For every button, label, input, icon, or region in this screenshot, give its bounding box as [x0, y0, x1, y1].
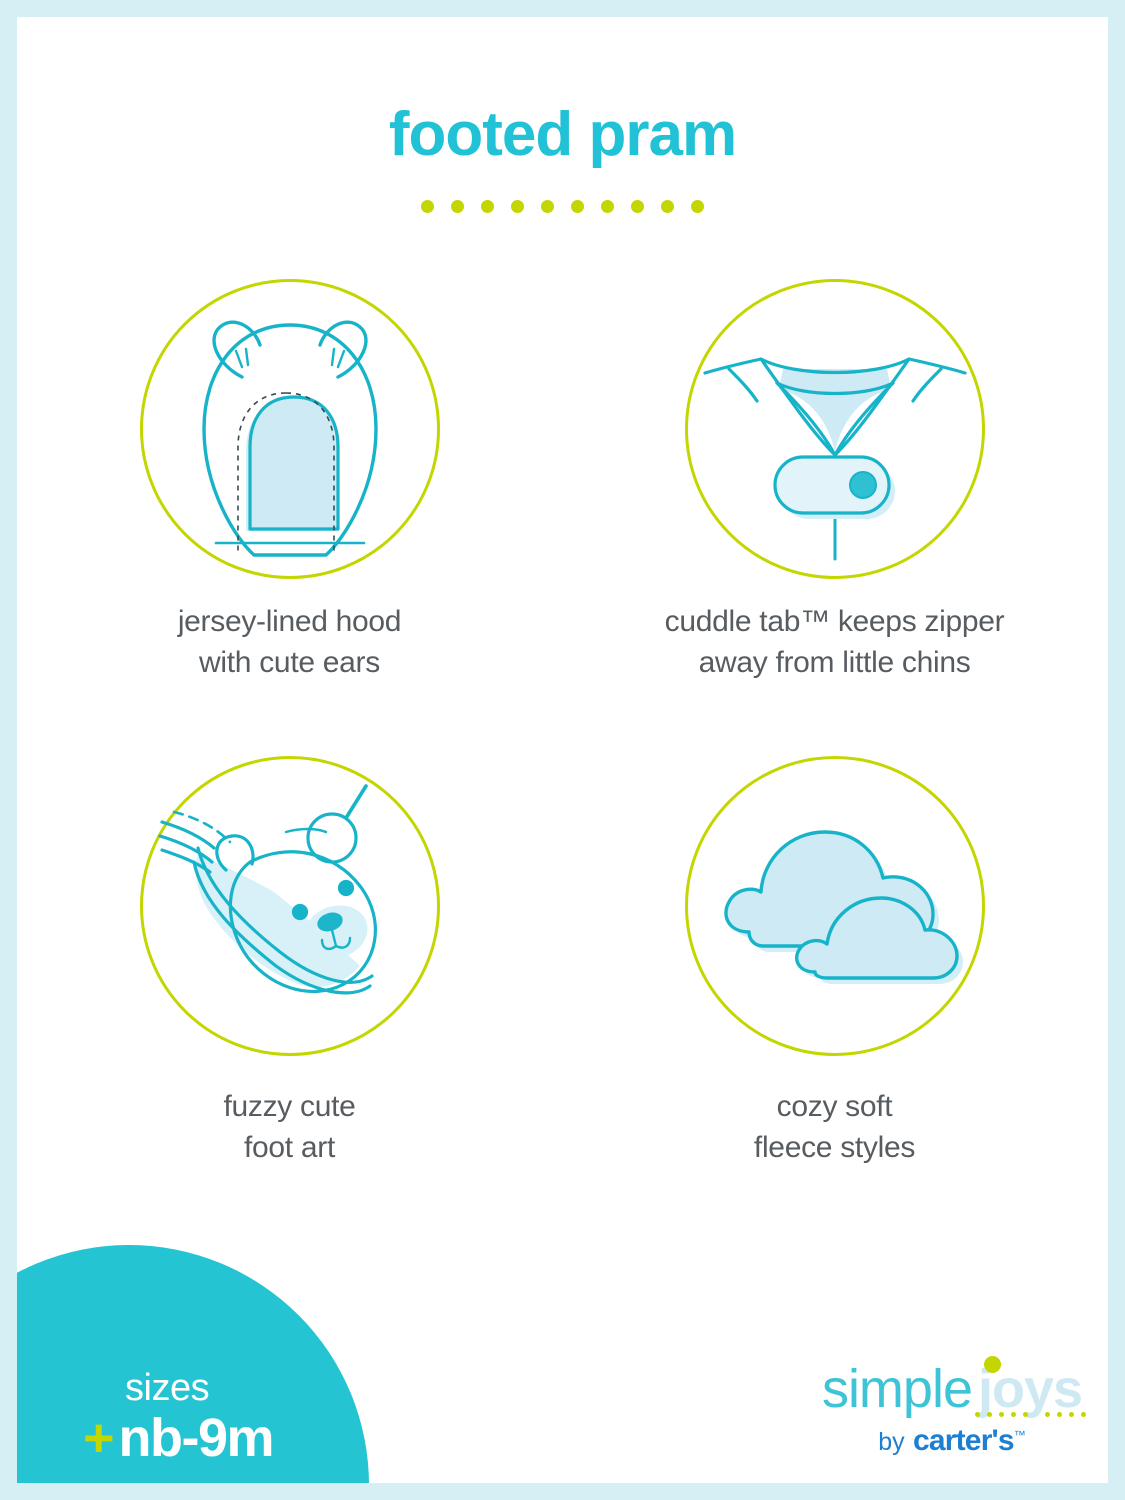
feature-item-fleece: cozy soft fleece styles [562, 756, 1107, 1169]
cuddle-tab-collar-icon [699, 293, 971, 565]
feature-item-foot-art: fuzzy cute foot art [17, 756, 562, 1169]
feature-item-hood: jersey-lined hood with cute ears [17, 279, 562, 684]
divider-dot [661, 200, 674, 213]
brand-logo: simplejoys by carter's™ [807, 1362, 1097, 1456]
divider-dot [451, 200, 464, 213]
sizes-plus-symbol: + [83, 1411, 115, 1465]
brand-logo-bottom: by carter's™ [807, 1426, 1097, 1456]
feature-caption-line1: cozy soft [754, 1086, 915, 1127]
feature-caption-line1: jersey-lined hood [178, 601, 401, 642]
brand-word-simple: simple [822, 1359, 972, 1419]
title-dot-divider [17, 200, 1108, 213]
logo-dot [1057, 1412, 1062, 1417]
feature-icon-ring [140, 756, 440, 1056]
hood-lining [250, 397, 338, 529]
infographic-card: footed pram [17, 17, 1108, 1483]
divider-dot [511, 200, 524, 213]
sizes-badge: sizes + nb-9m [83, 1369, 383, 1465]
feature-caption: jersey-lined hood with cute ears [178, 601, 401, 684]
logo-dot [1023, 1412, 1028, 1417]
snap-dot [850, 472, 876, 498]
feature-caption-line2: foot art [223, 1127, 355, 1168]
divider-dot [631, 200, 644, 213]
feature-caption-line1: cuddle tab™ keeps zipper [665, 601, 1005, 642]
bear-hood-icon [154, 293, 426, 565]
trademark-symbol: ™ [1014, 1428, 1026, 1442]
divider-dot [601, 200, 614, 213]
logo-dot [1081, 1412, 1086, 1417]
feature-icon-ring [685, 756, 985, 1056]
feature-caption: cozy soft fleece styles [754, 1086, 915, 1169]
feature-icon-ring [685, 279, 985, 579]
sizes-value: nb-9m [119, 1411, 274, 1465]
feature-caption-line1: fuzzy cute [223, 1086, 355, 1127]
clouds-icon [699, 770, 971, 1042]
feature-row: fuzzy cute foot art [17, 756, 1108, 1169]
brand-word-joys: joys [978, 1359, 1082, 1419]
feature-item-cuddle-tab: cuddle tab™ keeps zipper away from littl… [562, 279, 1107, 684]
feature-caption: cuddle tab™ keeps zipper away from littl… [665, 601, 1005, 684]
bear-foot-art-icon [154, 770, 426, 1042]
feature-row: jersey-lined hood with cute ears [17, 279, 1108, 684]
feature-caption-line2: with cute ears [178, 642, 401, 683]
feature-caption: fuzzy cute foot art [223, 1086, 355, 1169]
divider-dot [541, 200, 554, 213]
brand-logo-top: simplejoys [807, 1362, 1097, 1416]
page-title: footed pram [17, 99, 1108, 170]
sizes-label: sizes [83, 1369, 383, 1407]
divider-dot [421, 200, 434, 213]
logo-j-dot-icon [984, 1356, 1001, 1373]
divider-dot [691, 200, 704, 213]
divider-dot [571, 200, 584, 213]
feature-grid: jersey-lined hood with cute ears [17, 279, 1108, 1169]
logo-dot [1011, 1412, 1016, 1417]
brand-word-by: by [878, 1428, 904, 1456]
feature-icon-ring [140, 279, 440, 579]
sizes-value-row: + nb-9m [83, 1411, 383, 1465]
feature-caption-line2: fleece styles [754, 1127, 915, 1168]
logo-dot [1045, 1412, 1050, 1417]
logo-underline-dots [807, 1412, 1097, 1420]
divider-dot [481, 200, 494, 213]
feature-caption-line2: away from little chins [665, 642, 1005, 683]
logo-dot [987, 1412, 992, 1417]
logo-dot [999, 1412, 1004, 1417]
infographic-page: footed pram [0, 0, 1125, 1500]
logo-dot [975, 1412, 980, 1417]
brand-word-carters: carter's [913, 1424, 1014, 1457]
logo-dot [1069, 1412, 1074, 1417]
